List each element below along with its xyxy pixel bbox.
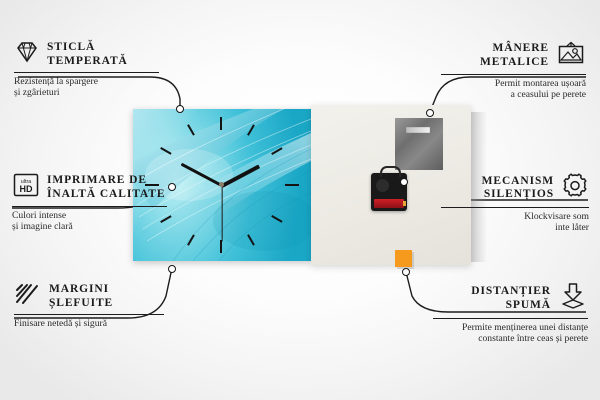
foam-spacer-icon [558, 282, 588, 315]
clock-tick [220, 240, 222, 253]
infographic-canvas: STICLĂ TEMPERATĂ Rezistență la spargere … [0, 0, 600, 400]
callout-foam-spacer[interactable]: DISTANȚIER SPUMĂ Permite menținerea unei… [433, 282, 588, 345]
callout-silent-mechanism[interactable]: MECANISM SILENȚIOS Klockvisare som inte … [441, 172, 589, 234]
callout-subtitle: Klockvisare som inte låter [441, 211, 589, 234]
callout-subtitle: Rezistență la spargere și zgârieturi [14, 76, 159, 99]
callout-hq-print[interactable]: ultra HD IMPRIMARE DE ÎNALTĂ CALITATE Cu… [12, 172, 167, 233]
callout-rule [441, 74, 586, 75]
anchor-dot-right-1 [426, 109, 434, 117]
callout-rule [12, 206, 167, 207]
anchor-dot-left-3 [168, 265, 176, 273]
callout-title: STICLĂ TEMPERATĂ [47, 41, 128, 68]
callout-title: MÂNERE METALICE [480, 42, 549, 69]
callout-subtitle: Finisare netedă și sigură [14, 318, 164, 329]
callout-rule [14, 72, 159, 73]
callout-tempered-glass[interactable]: STICLĂ TEMPERATĂ Rezistență la spargere … [14, 40, 159, 99]
callout-rule [441, 207, 589, 208]
ultra-hd-icon: ultra HD [12, 172, 40, 203]
clock-second-hand [221, 186, 222, 242]
callout-title: IMPRIMARE DE ÎNALTĂ CALITATE [47, 174, 165, 201]
callout-title: DISTANȚIER SPUMĂ [471, 285, 551, 312]
callout-subtitle: Permite menținerea unei distanțe constan… [433, 322, 588, 345]
anchor-dot-left-1 [176, 105, 184, 113]
svg-text:HD: HD [20, 184, 33, 194]
callout-subtitle: Permit montarea ușoară a ceasului pe per… [441, 78, 586, 101]
anchor-dot-right-3 [402, 268, 410, 276]
anchor-dot-left-2 [168, 183, 176, 191]
gear-icon [561, 172, 589, 204]
mechanism-dial [376, 179, 389, 192]
picture-frame-icon [556, 40, 586, 71]
metal-hanger-bracket [395, 118, 443, 170]
callout-title: MECANISM SILENȚIOS [482, 175, 554, 202]
callout-subtitle: Culori intense și imagine clară [12, 210, 167, 233]
diamond-icon [14, 40, 40, 69]
callout-rule [14, 314, 164, 315]
callout-title: MARGINI ȘLEFUITE [49, 283, 113, 310]
hanger-slot [406, 127, 430, 133]
clock-tick [220, 117, 222, 130]
clock-tick [285, 184, 299, 186]
polished-edge-icon [14, 282, 42, 311]
mechanism-hook [380, 166, 401, 177]
callout-rule [433, 318, 588, 319]
battery [374, 199, 404, 208]
clock-center-pin [219, 182, 224, 187]
callout-metal-handles[interactable]: MÂNERE METALICE Permit montarea ușoară a… [441, 40, 586, 101]
callout-polished-edges[interactable]: MARGINI ȘLEFUITE Finisare netedă și sigu… [14, 282, 164, 329]
anchor-dot-right-2 [400, 178, 408, 186]
foam-spacer [395, 250, 412, 267]
